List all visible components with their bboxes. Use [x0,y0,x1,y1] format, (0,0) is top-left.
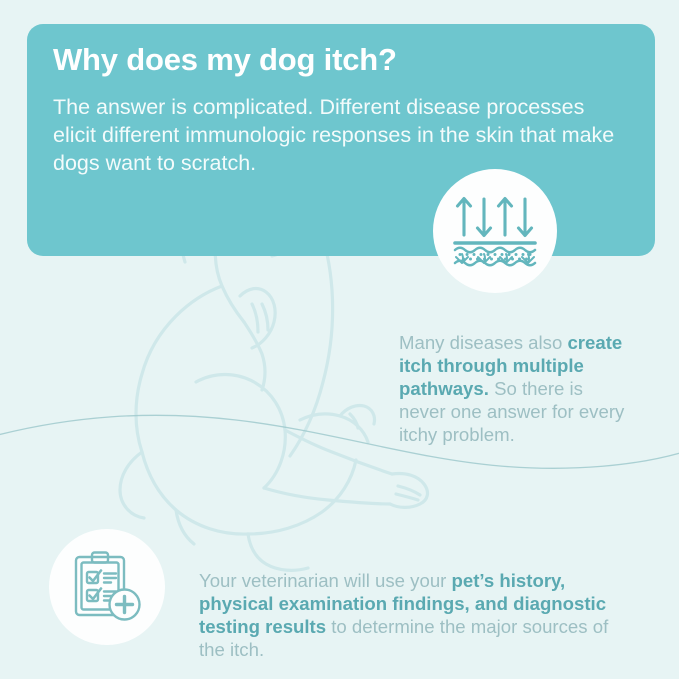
skin-arrows-icon [452,193,538,269]
clipboard-checklist-medical-icon [69,549,145,625]
bottom-paragraph: Your veterinarian will use your pet’s hi… [199,569,629,661]
header-card: Why does my dog itch? The answer is comp… [27,24,655,256]
infographic-root: Why does my dog itch? The answer is comp… [0,0,679,679]
middle-text-plain: Many diseases also [399,332,567,353]
page-title: Why does my dog itch? [53,42,629,79]
clipboard-icon-badge [49,529,165,645]
bottom-text-plain: Your veterinarian will use your [199,570,452,591]
skin-icon-badge [433,169,557,293]
middle-paragraph: Many diseases also create itch through m… [399,331,631,446]
header-description: The answer is complicated. Different dis… [53,93,629,178]
